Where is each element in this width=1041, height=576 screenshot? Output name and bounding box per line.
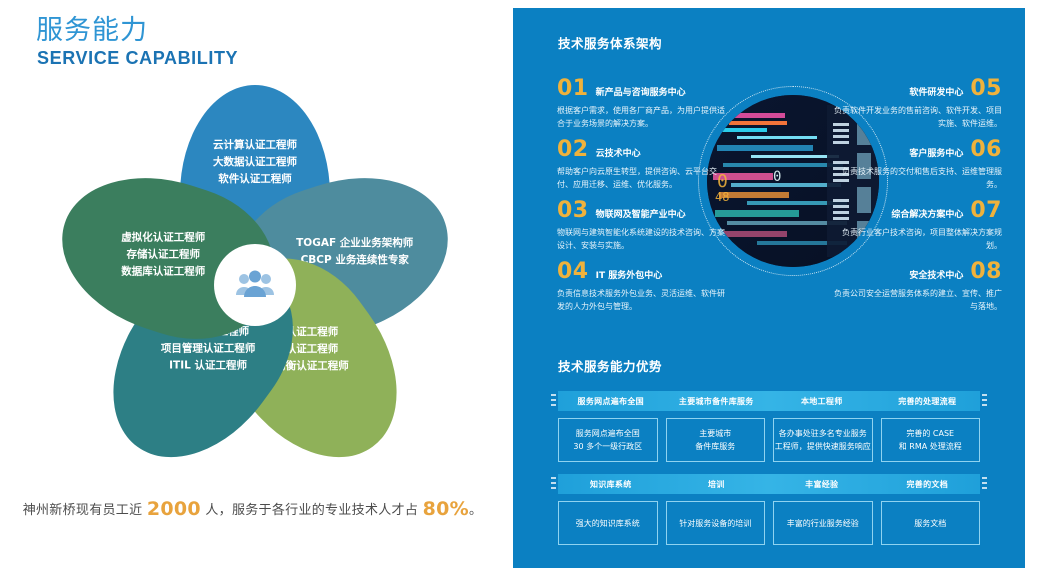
petal-label: 云计算认证工程师 大数据认证工程师 软件认证工程师 — [213, 137, 297, 188]
arch-item-header: 安全技术中心 08 — [827, 261, 1002, 283]
right-blue-panel: 技术服务体系架构 技术服务能力优势 — [513, 8, 1025, 568]
table-cell: 完善的 CASE 和 RMA 处理流程 — [881, 418, 981, 462]
left-pane: 服务能力 SERVICE CAPABILITY 云计算认证工程师 大数据认证工程… — [0, 0, 505, 576]
arch-item-name: 安全技术中心 — [909, 268, 963, 281]
table-cell-line: 服务网点遍布全国 — [576, 427, 640, 440]
petal-line: 存储认证工程师 — [121, 247, 205, 264]
table-cell-line: 针对服务设备的培训 — [679, 517, 751, 530]
table-cell: 针对服务设备的培训 — [666, 501, 766, 545]
arch-item-number: 08 — [970, 261, 1002, 283]
petal-line: 软件认证工程师 — [213, 171, 297, 188]
table-cell-line: 完善的 CASE — [906, 427, 954, 440]
arch-item-header: 01 新产品与咨询服务中心 — [557, 78, 732, 100]
table-cell-line: 和 RMA 处理流程 — [899, 440, 962, 453]
caption-number-employees: 2000 — [147, 498, 201, 520]
table-header-cell: 丰富经验 — [769, 474, 875, 494]
petal-line: 数据库认证工程师 — [121, 264, 205, 281]
petal-label: 虚拟化认证工程师 存储认证工程师 数据库认证工程师 — [121, 230, 205, 281]
arch-item-header: 03 物联网及智能产业中心 — [557, 200, 732, 222]
table-header-cell: 主要城市备件库服务 — [664, 391, 770, 411]
arch-item-desc: 帮助客户向云原生转型，提供咨询、云平台交付、应用迁移、运维、优化服务。 — [557, 165, 732, 191]
caption-text: 人，服务于各行业的专业技术人才占 — [201, 503, 423, 518]
arch-item-desc: 负责技术服务的交付和售后支持、运维管理服务。 — [827, 165, 1002, 191]
arch-item-number: 04 — [557, 261, 589, 283]
arch-item-desc: 负责软件开发业务的售前咨询、软件开发、项目实施、软件运维。 — [827, 104, 1002, 130]
caption-text: 。 — [469, 503, 482, 518]
arch-item-04[interactable]: 04 IT 服务外包中心 负责信息技术服务外包业务、灵活运维、软件研发的人力外包… — [557, 261, 732, 313]
table-body-row: 服务网点遍布全国 30 多个一级行政区 主要城市 备件库服务 各办事处驻多名专业… — [558, 418, 980, 462]
arch-item-name: 物联网及智能产业中心 — [596, 207, 686, 220]
arch-item-desc: 根据客户需求，使用各厂商产品，为用户提供适合于业务场景的解决方案。 — [557, 104, 732, 130]
table-cell: 服务网点遍布全国 30 多个一级行政区 — [558, 418, 658, 462]
architecture-section-title: 技术服务体系架构 — [558, 33, 662, 52]
arch-item-03[interactable]: 03 物联网及智能产业中心 物联网与建筑智能化系统建设的技术咨询、方案设计、安装… — [557, 200, 732, 252]
table-cell-line: 服务文档 — [914, 517, 946, 530]
arch-item-number: 02 — [557, 139, 589, 161]
svg-text:0: 0 — [773, 169, 781, 185]
arch-item-name: 综合解决方案中心 — [891, 207, 963, 220]
arch-item-08[interactable]: 安全技术中心 08 负责公司安全运营服务体系的建立、宣传、推广与落地。 — [827, 261, 1002, 313]
table-header-cell: 完善的文档 — [875, 474, 981, 494]
table-header-cell: 服务网点遍布全国 — [558, 391, 664, 411]
table-cell-line: 强大的知识库系统 — [576, 517, 640, 530]
page-title-en: SERVICE CAPABILITY — [37, 48, 238, 69]
caption-text: 神州新桥现有员工近 — [23, 503, 147, 518]
arch-item-02[interactable]: 02 云技术中心 帮助客户向云原生转型，提供咨询、云平台交付、应用迁移、运维、优… — [557, 139, 732, 191]
petal-line: 大数据认证工程师 — [213, 154, 297, 171]
table-cell: 服务文档 — [881, 501, 981, 545]
arch-item-name: 新产品与咨询服务中心 — [596, 85, 686, 98]
table-cell-line: 主要城市 — [699, 427, 731, 440]
arch-item-desc: 负责信息技术服务外包业务、灵活运维、软件研发的人力外包与管理。 — [557, 287, 732, 313]
table-header-row: 知识库系统 培训 丰富经验 完善的文档 — [558, 474, 980, 494]
table-cell: 强大的知识库系统 — [558, 501, 658, 545]
arch-item-header: 02 云技术中心 — [557, 139, 732, 161]
petal-line: 云计算认证工程师 — [213, 137, 297, 154]
arch-item-06[interactable]: 客户服务中心 06 负责技术服务的交付和售后支持、运维管理服务。 — [827, 139, 1002, 191]
employee-caption: 神州新桥现有员工近 2000 人，服务于各行业的专业技术人才占 80%。 — [0, 498, 505, 520]
flower-hub — [214, 244, 296, 326]
table-cell-line: 工程师，提供快速服务响应 — [775, 440, 871, 453]
table-cell-line: 备件库服务 — [695, 440, 735, 453]
slide-page: 服务能力 SERVICE CAPABILITY 云计算认证工程师 大数据认证工程… — [0, 0, 1041, 576]
caption-number-percent: 80% — [423, 498, 469, 520]
advantages-table-2: 知识库系统 培训 丰富经验 完善的文档 强大的知识库系统 针对服务设备的培训 丰… — [558, 474, 980, 545]
arch-item-number: 07 — [970, 200, 1002, 222]
arch-item-number: 03 — [557, 200, 589, 222]
arch-item-number: 06 — [970, 139, 1002, 161]
arch-item-header: 04 IT 服务外包中心 — [557, 261, 732, 283]
table-header-row: 服务网点遍布全国 主要城市备件库服务 本地工程师 完善的处理流程 — [558, 391, 980, 411]
arch-item-name: 云技术中心 — [596, 146, 641, 159]
table-header-cell: 本地工程师 — [769, 391, 875, 411]
petal-line: ITIL 认证工程师 — [161, 358, 256, 375]
arch-item-05[interactable]: 软件研发中心 05 负责软件开发业务的售前咨询、软件开发、项目实施、软件运维。 — [827, 78, 1002, 130]
page-title-cn: 服务能力 — [36, 16, 148, 46]
arch-item-header: 客户服务中心 06 — [827, 139, 1002, 161]
table-header-cell: 完善的处理流程 — [875, 391, 981, 411]
table-cell: 主要城市 备件库服务 — [666, 418, 766, 462]
arch-item-number: 05 — [970, 78, 1002, 100]
advantages-section-title: 技术服务能力优势 — [558, 356, 662, 375]
arch-item-desc: 负责行业客户技术咨询，项目整体解决方案规划。 — [827, 226, 1002, 252]
arch-item-desc: 负责公司安全运营服务体系的建立、宣传、推广与落地。 — [827, 287, 1002, 313]
table-body-row: 强大的知识库系统 针对服务设备的培训 丰富的行业服务经验 服务文档 — [558, 501, 980, 545]
arch-item-name: IT 服务外包中心 — [596, 268, 663, 281]
table-cell: 丰富的行业服务经验 — [773, 501, 873, 545]
arch-item-header: 综合解决方案中心 07 — [827, 200, 1002, 222]
table-cell-line: 各办事处驻多名专业服务 — [779, 427, 867, 440]
arch-item-header: 软件研发中心 05 — [827, 78, 1002, 100]
advantages-table-1: 服务网点遍布全国 主要城市备件库服务 本地工程师 完善的处理流程 服务网点遍布全… — [558, 391, 980, 462]
arch-item-desc: 物联网与建筑智能化系统建设的技术咨询、方案设计、安装与实施。 — [557, 226, 732, 252]
arch-item-number: 01 — [557, 78, 589, 100]
table-cell-line: 丰富的行业服务经验 — [787, 517, 859, 530]
table-cell-line: 30 多个一级行政区 — [573, 440, 642, 453]
table-header-cell: 培训 — [664, 474, 770, 494]
arch-item-name: 客户服务中心 — [909, 146, 963, 159]
table-header-cell: 知识库系统 — [558, 474, 664, 494]
arch-item-07[interactable]: 综合解决方案中心 07 负责行业客户技术咨询，项目整体解决方案规划。 — [827, 200, 1002, 252]
arch-item-01[interactable]: 01 新产品与咨询服务中心 根据客户需求，使用各厂商产品，为用户提供适合于业务场… — [557, 78, 732, 130]
people-group-icon — [235, 270, 275, 300]
petal-line: 虚拟化认证工程师 — [121, 230, 205, 247]
arch-item-name: 软件研发中心 — [909, 85, 963, 98]
flower-diagram: 云计算认证工程师 大数据认证工程师 软件认证工程师 TOGAF 企业业务架构师 … — [25, 95, 485, 475]
table-cell: 各办事处驻多名专业服务 工程师，提供快速服务响应 — [773, 418, 873, 462]
petal-line: 项目管理认证工程师 — [161, 341, 256, 358]
petal-line: TOGAF 企业业务架构师 — [296, 236, 413, 253]
